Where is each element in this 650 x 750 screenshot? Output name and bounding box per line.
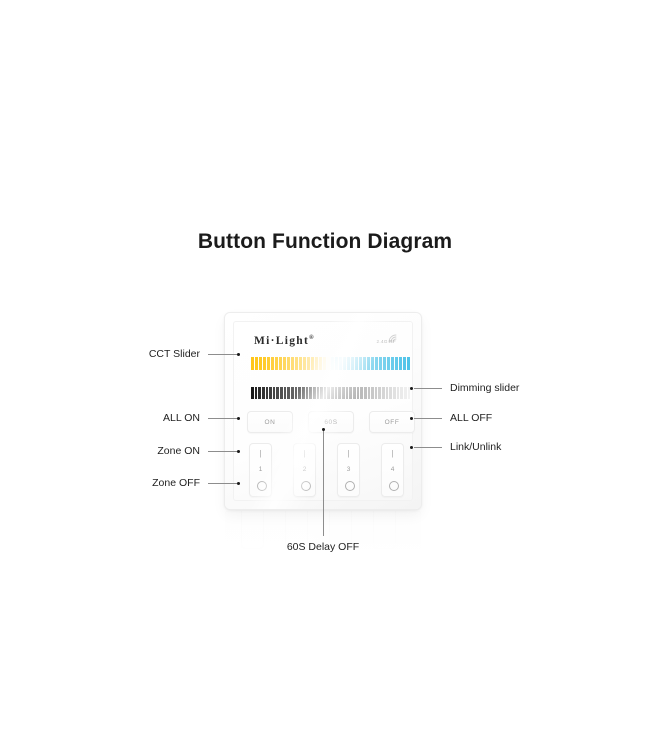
- cct-slider-bar: [271, 357, 274, 370]
- dimming-slider-bar: [335, 387, 338, 399]
- cct-slider-bar: [331, 357, 334, 370]
- cct-slider-bar: [303, 357, 306, 370]
- cct-slider-bar: [311, 357, 314, 370]
- zone-off-icon[interactable]: [257, 481, 267, 491]
- callout-label-zone-on-area: Zone ON: [157, 446, 200, 457]
- zone-button-4[interactable]: |4: [381, 443, 404, 497]
- dimming-slider-bar: [269, 387, 272, 399]
- dimming-slider-bar: [320, 387, 323, 399]
- dimming-slider-bar: [331, 387, 334, 399]
- callout-anchor-dot: [237, 417, 240, 420]
- brand-name: Mi·Light: [254, 335, 309, 347]
- cct-slider-bar: [391, 357, 394, 370]
- dimming-slider-bar: [360, 387, 363, 399]
- zone-button-2[interactable]: |2: [293, 443, 316, 497]
- dimming-slider-bar: [397, 387, 400, 399]
- diagram-stage: Button Function Diagram Mi·Light® 2.4G R…: [0, 0, 650, 750]
- delay-off-button[interactable]: 60S: [308, 411, 354, 433]
- cct-slider-bar: [275, 357, 278, 370]
- callout-anchor-dot: [237, 482, 240, 485]
- dimming-slider-bar: [255, 387, 258, 399]
- cct-slider-bar: [383, 357, 386, 370]
- cct-slider-bar: [343, 357, 346, 370]
- callout-leader-line: [323, 428, 324, 536]
- dimming-slider-bar: [404, 387, 407, 399]
- zone-on-icon[interactable]: |: [249, 450, 272, 458]
- dimming-slider-bar: [251, 387, 254, 399]
- dimming-slider-bar: [386, 387, 389, 399]
- callout-anchor-dot: [237, 353, 240, 356]
- callout-leader-line: [208, 354, 237, 355]
- cct-slider-bar: [315, 357, 318, 370]
- callout-label-all-on-button: ALL ON: [163, 413, 200, 424]
- cct-slider-bar: [347, 357, 350, 370]
- dimming-slider-bar: [338, 387, 341, 399]
- cct-slider-bar: [251, 357, 254, 370]
- dimming-slider-bar: [342, 387, 345, 399]
- zone-on-icon[interactable]: |: [381, 450, 404, 458]
- zone-button-row: |1|2|3|4: [247, 443, 415, 497]
- cct-slider-bar: [399, 357, 402, 370]
- callout-leader-line: [208, 418, 237, 419]
- zone-button-1[interactable]: |1: [249, 443, 272, 497]
- cct-slider[interactable]: [251, 357, 411, 370]
- callout-anchor-dot: [410, 446, 413, 449]
- all-off-button[interactable]: OFF: [369, 411, 415, 433]
- callout-anchor-dot: [237, 450, 240, 453]
- dimming-slider-bar: [273, 387, 276, 399]
- cct-slider-bar: [359, 357, 362, 370]
- dimming-slider-bar: [291, 387, 294, 399]
- zone-number-label: 4: [381, 467, 404, 474]
- cct-slider-bar: [379, 357, 382, 370]
- dimming-slider-bar: [317, 387, 320, 399]
- cct-slider-bar: [403, 357, 406, 370]
- dimming-slider-bar: [258, 387, 261, 399]
- dimming-slider-bar: [284, 387, 287, 399]
- all-on-button[interactable]: ON: [247, 411, 293, 433]
- cct-slider-bar: [387, 357, 390, 370]
- zone-button-3[interactable]: |3: [337, 443, 360, 497]
- callout-label-all-off-button: ALL OFF: [450, 413, 492, 424]
- trademark-symbol: ®: [309, 335, 313, 341]
- callout-label-zone-off-area: Zone OFF: [152, 478, 200, 489]
- mode-button-row: ON60SOFF: [247, 411, 415, 433]
- callout-leader-line: [208, 451, 237, 452]
- zone-number-label: 1: [249, 467, 272, 474]
- dimming-slider-bar: [349, 387, 352, 399]
- dimming-slider-bar: [302, 387, 305, 399]
- dimming-slider-bar: [378, 387, 381, 399]
- dimming-slider-bar: [368, 387, 371, 399]
- cct-slider-bar: [287, 357, 290, 370]
- dimming-slider-bar: [298, 387, 301, 399]
- dimming-slider-bar: [382, 387, 385, 399]
- dimming-slider-bar: [371, 387, 374, 399]
- zone-on-icon[interactable]: |: [293, 450, 316, 458]
- zone-off-icon[interactable]: [345, 481, 355, 491]
- callout-label-cct-slider: CCT Slider: [149, 349, 200, 360]
- dimming-slider-bar: [287, 387, 290, 399]
- cct-slider-bar: [375, 357, 378, 370]
- mode-button-label: 60S: [324, 419, 337, 426]
- callout-label-dimming-slider: Dimming slider: [450, 383, 519, 394]
- dimming-slider-bar: [400, 387, 403, 399]
- cct-slider-bar: [395, 357, 398, 370]
- dimming-slider-bar: [280, 387, 283, 399]
- cct-slider-bar: [339, 357, 342, 370]
- dimming-slider-bar: [266, 387, 269, 399]
- cct-slider-bar: [291, 357, 294, 370]
- zone-on-icon[interactable]: |: [337, 450, 360, 458]
- callout-anchor-dot: [322, 428, 325, 431]
- callout-leader-line: [414, 447, 442, 448]
- dimming-slider-bar: [262, 387, 265, 399]
- rf-frequency-label: 2.4G RF: [377, 339, 396, 344]
- cct-slider-bar: [367, 357, 370, 370]
- zone-off-icon[interactable]: [301, 481, 311, 491]
- cct-slider-bar: [323, 357, 326, 370]
- cct-slider-bar: [351, 357, 354, 370]
- cct-slider-bar: [283, 357, 286, 370]
- cct-slider-bar: [327, 357, 330, 370]
- cct-slider-bar: [307, 357, 310, 370]
- cct-slider-bar: [279, 357, 282, 370]
- zone-number-label: 2: [293, 467, 316, 474]
- callout-anchor-dot: [410, 387, 413, 390]
- cct-slider-bar: [295, 357, 298, 370]
- cct-slider-bar: [371, 357, 374, 370]
- cct-slider-bar: [363, 357, 366, 370]
- zone-off-icon[interactable]: [389, 481, 399, 491]
- dimming-slider-bar: [313, 387, 316, 399]
- zone-number-label: 3: [337, 467, 360, 474]
- dimming-slider-bar: [389, 387, 392, 399]
- cct-slider-bar: [335, 357, 338, 370]
- dimming-slider-bar: [346, 387, 349, 399]
- dimming-slider-bar: [327, 387, 330, 399]
- cct-slider-bar: [355, 357, 358, 370]
- callout-leader-line: [414, 388, 442, 389]
- cct-slider-bar: [259, 357, 262, 370]
- dimming-slider-bar: [295, 387, 298, 399]
- callout-leader-line: [208, 483, 237, 484]
- dimming-slider[interactable]: [251, 387, 411, 399]
- cct-slider-bar: [319, 357, 322, 370]
- dimming-slider-bar: [276, 387, 279, 399]
- cct-slider-bar: [255, 357, 258, 370]
- mode-button-label: ON: [265, 419, 276, 426]
- callout-label-delay-off-button: 60S Delay OFF: [0, 542, 648, 553]
- cct-slider-bar: [299, 357, 302, 370]
- cct-slider-bar: [263, 357, 266, 370]
- dimming-slider-bar: [306, 387, 309, 399]
- dimming-slider-bar: [309, 387, 312, 399]
- dimming-slider-bar: [393, 387, 396, 399]
- callout-leader-line: [414, 418, 442, 419]
- dimming-slider-bar: [375, 387, 378, 399]
- dimming-slider-bar: [324, 387, 327, 399]
- callout-label-link-unlink-area: Link/Unlink: [450, 442, 501, 453]
- page-title: Button Function Diagram: [0, 230, 650, 254]
- dimming-slider-bar: [353, 387, 356, 399]
- callout-anchor-dot: [410, 417, 413, 420]
- cct-slider-bar: [267, 357, 270, 370]
- brand-logo: Mi·Light®: [254, 335, 314, 347]
- dimming-slider-bar: [357, 387, 360, 399]
- mode-button-label: OFF: [385, 419, 400, 426]
- cct-slider-bar: [407, 357, 410, 370]
- dimming-slider-bar: [364, 387, 367, 399]
